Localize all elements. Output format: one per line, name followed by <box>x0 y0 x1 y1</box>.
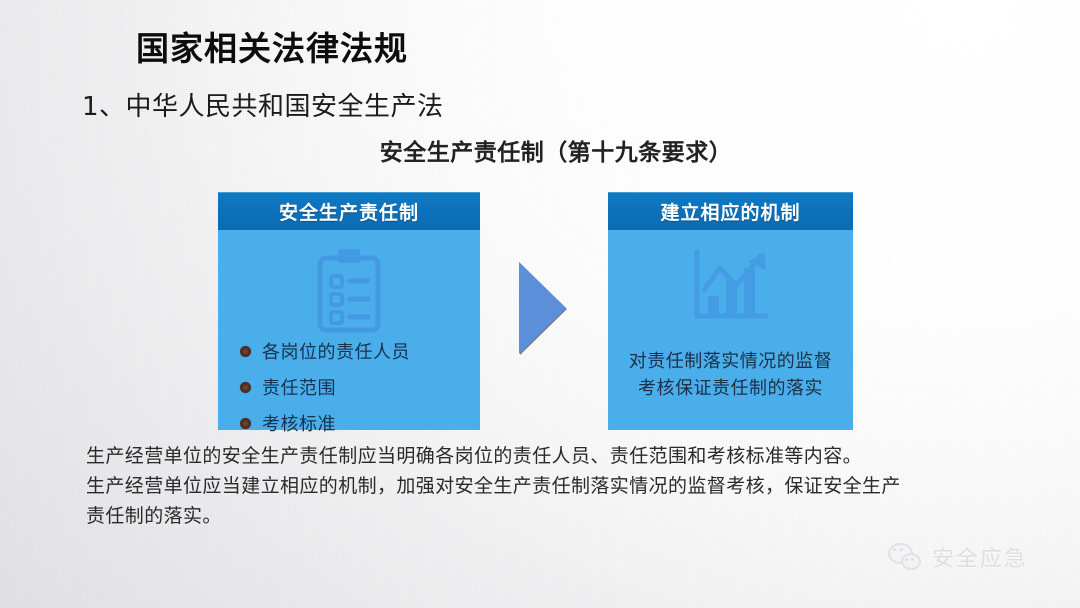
panel-right-description-line1: 对责任制落实情况的监督 <box>608 348 853 375</box>
wechat-icon <box>888 543 924 571</box>
footer-line-3: 责任制的落实。 <box>86 501 1006 531</box>
section-heading: 安全生产责任制（第十九条要求） <box>0 133 1080 167</box>
numbered-list-item: 1、中华人民共和国安全生产法 <box>82 86 444 123</box>
footer-line-2: 生产经营单位应当建立相应的机制，加强对安全生产责任制落实情况的监督考核，保证安全… <box>86 471 1006 501</box>
panel-responsibility-system: 安全生产责任制 <box>218 192 480 430</box>
bullet-label: 考核标准 <box>262 410 336 436</box>
list-item: 考核标准 <box>240 410 410 436</box>
bar-chart-growth-icon <box>608 246 853 328</box>
bullet-dot-icon <box>240 418 251 429</box>
panel-right-body: 对责任制落实情况的监督 考核保证责任制的落实 <box>608 230 853 430</box>
bullet-dot-icon <box>240 346 251 357</box>
panel-establish-mechanism: 建立相应的机制 对责任制落实情况的监督 考核保证责 <box>608 192 853 430</box>
section-heading-text: 安全生产责任制（第十九条要求） <box>380 133 733 167</box>
bullet-label: 各岗位的责任人员 <box>262 338 410 364</box>
watermark-label: 安全应急 <box>932 541 1028 573</box>
list-item: 各岗位的责任人员 <box>240 338 410 364</box>
right-triangle-arrow-icon <box>519 262 566 354</box>
panel-right-description-line2: 考核保证责任制的落实 <box>608 375 853 402</box>
footer-line-1: 生产经营单位的安全生产责任制应当明确各岗位的责任人员、责任范围和考核标准等内容。 <box>86 441 1006 471</box>
bullet-dot-icon <box>240 382 251 393</box>
responsibility-bullet-list: 各岗位的责任人员 责任范围 考核标准 <box>240 338 410 446</box>
page-title: 国家相关法律法规 <box>136 22 408 70</box>
slide-canvas: 国家相关法律法规 1、中华人民共和国安全生产法 安全生产责任制（第十九条要求） … <box>0 0 1080 608</box>
panel-left-header: 安全生产责任制 <box>218 192 480 230</box>
panel-right-description: 对责任制落实情况的监督 考核保证责任制的落实 <box>608 348 853 402</box>
bullet-label: 责任范围 <box>262 374 336 400</box>
panel-left-body: 各岗位的责任人员 责任范围 考核标准 <box>218 230 480 430</box>
list-item: 责任范围 <box>240 374 410 400</box>
footer-paragraph: 生产经营单位的安全生产责任制应当明确各岗位的责任人员、责任范围和考核标准等内容。… <box>86 441 1006 531</box>
clipboard-checklist-icon <box>218 246 480 336</box>
watermark: 安全应急 <box>888 541 1028 573</box>
panel-right-header: 建立相应的机制 <box>608 192 853 230</box>
